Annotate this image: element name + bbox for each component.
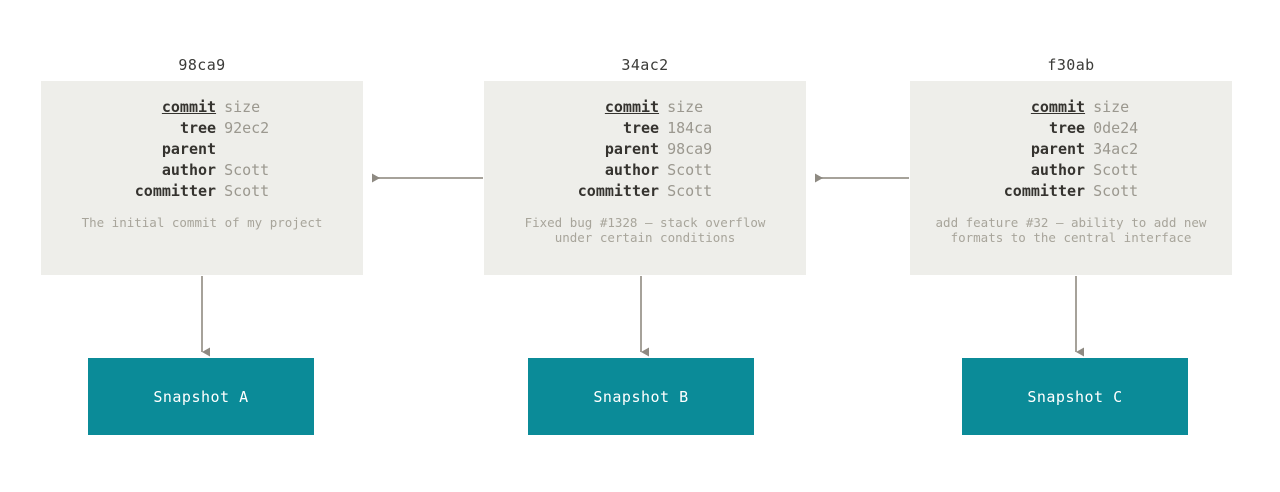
commit-field-row: author Scott (578, 160, 712, 181)
commit-message-98ca9: The initial commit of my project (41, 215, 363, 230)
field-value-commit: size (1093, 97, 1138, 118)
field-key-author: author (578, 160, 667, 181)
commit-message-f30ab: add feature #32 – ability to add new for… (910, 215, 1232, 245)
commit-field-row: committer Scott (135, 181, 269, 202)
snapshot-label-c: Snapshot C (1027, 388, 1122, 406)
field-value-tree: 92ec2 (224, 118, 269, 139)
commit-box-34ac2: commit size tree 184ca parent 98ca9 auth… (484, 81, 806, 275)
commit-hash-label-34ac2: 34ac2 (484, 56, 806, 75)
commit-hash-label-98ca9: 98ca9 (41, 56, 363, 75)
commit-column-98ca9: 98ca9 commit size tree 92ec2 parent auth… (41, 56, 363, 275)
commit-field-row: author Scott (1004, 160, 1138, 181)
field-key-tree: tree (578, 118, 667, 139)
commit-field-row: committer Scott (578, 181, 712, 202)
commit-field-row: tree 92ec2 (135, 118, 269, 139)
commit-field-row: author Scott (135, 160, 269, 181)
snapshot-box-c: Snapshot C (962, 358, 1188, 435)
field-key-committer: committer (135, 181, 224, 202)
commit-column-f30ab: f30ab commit size tree 0de24 parent 34ac… (910, 56, 1232, 275)
snapshot-label-b: Snapshot B (593, 388, 688, 406)
commit-field-row: commit size (135, 97, 269, 118)
commit-message-34ac2: Fixed bug #1328 – stack overflow under c… (484, 215, 806, 245)
commit-box-98ca9: commit size tree 92ec2 parent author Sco… (41, 81, 363, 275)
field-key-parent: parent (1004, 139, 1093, 160)
commit-fields-98ca9: commit size tree 92ec2 parent author Sco… (135, 97, 269, 202)
snapshot-label-a: Snapshot A (153, 388, 248, 406)
commit-field-row: parent 34ac2 (1004, 139, 1138, 160)
commit-box-f30ab: commit size tree 0de24 parent 34ac2 auth… (910, 81, 1232, 275)
field-value-committer: Scott (224, 181, 269, 202)
field-key-tree: tree (1004, 118, 1093, 139)
field-value-parent (224, 139, 269, 160)
field-key-parent: parent (135, 139, 224, 160)
field-value-commit: size (224, 97, 269, 118)
commit-field-row: tree 0de24 (1004, 118, 1138, 139)
commit-field-row: commit size (578, 97, 712, 118)
snapshot-box-b: Snapshot B (528, 358, 754, 435)
field-key-parent: parent (578, 139, 667, 160)
field-key-committer: committer (1004, 181, 1093, 202)
commit-column-34ac2: 34ac2 commit size tree 184ca parent 98ca… (484, 56, 806, 275)
commit-fields-34ac2: commit size tree 184ca parent 98ca9 auth… (578, 97, 712, 202)
field-key-commit: commit (135, 97, 224, 118)
field-value-parent: 34ac2 (1093, 139, 1138, 160)
field-value-committer: Scott (667, 181, 712, 202)
field-value-commit: size (667, 97, 712, 118)
commit-field-row: parent (135, 139, 269, 160)
field-key-author: author (1004, 160, 1093, 181)
commit-field-row: commit size (1004, 97, 1138, 118)
field-key-tree: tree (135, 118, 224, 139)
field-value-committer: Scott (1093, 181, 1138, 202)
field-value-tree: 0de24 (1093, 118, 1138, 139)
field-value-author: Scott (667, 160, 712, 181)
field-key-commit: commit (578, 97, 667, 118)
field-key-commit: commit (1004, 97, 1093, 118)
field-value-author: Scott (1093, 160, 1138, 181)
commit-hash-label-f30ab: f30ab (910, 56, 1232, 75)
field-value-tree: 184ca (667, 118, 712, 139)
snapshot-box-a: Snapshot A (88, 358, 314, 435)
diagram-canvas: 98ca9 commit size tree 92ec2 parent auth… (0, 0, 1280, 492)
field-value-author: Scott (224, 160, 269, 181)
field-key-committer: committer (578, 181, 667, 202)
field-value-parent: 98ca9 (667, 139, 712, 160)
commit-fields-f30ab: commit size tree 0de24 parent 34ac2 auth… (1004, 97, 1138, 202)
commit-field-row: committer Scott (1004, 181, 1138, 202)
field-key-author: author (135, 160, 224, 181)
commit-field-row: parent 98ca9 (578, 139, 712, 160)
commit-field-row: tree 184ca (578, 118, 712, 139)
